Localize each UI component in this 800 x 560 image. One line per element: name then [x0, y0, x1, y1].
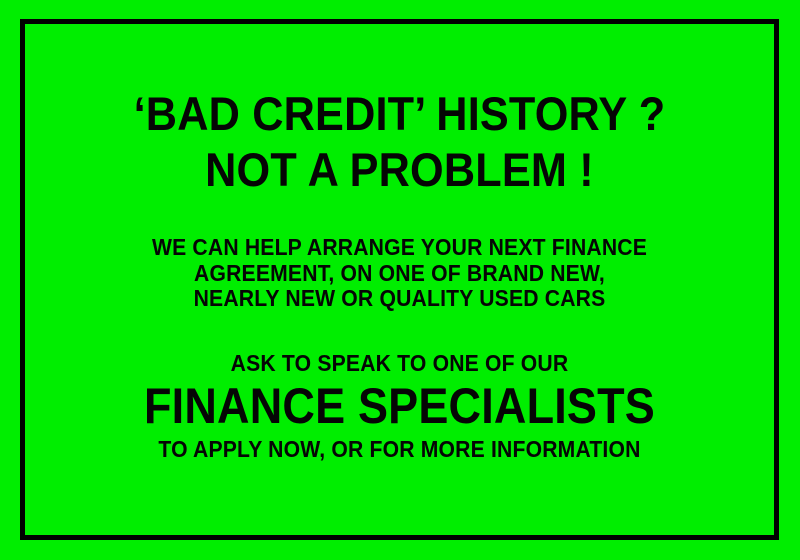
body-line-2: AGREEMENT, ON ONE OF BRAND NEW, — [62, 261, 736, 287]
cta-lead-text: ASK TO SPEAK TO ONE OF OUR — [62, 349, 736, 377]
cta-tail-text: TO APPLY NOW, OR FOR MORE INFORMATION — [62, 435, 736, 463]
body-line-3: NEARLY NEW OR QUALITY USED CARS — [62, 286, 736, 312]
cta-headline-text: FINANCE SPECIALISTS — [62, 377, 736, 435]
body-text-block: WE CAN HELP ARRANGE YOUR NEXT FINANCE AG… — [25, 235, 774, 312]
call-to-action-block: ASK TO SPEAK TO ONE OF OUR FINANCE SPECI… — [25, 349, 774, 463]
body-line-1: WE CAN HELP ARRANGE YOUR NEXT FINANCE — [62, 235, 736, 261]
headline-line-1: ‘BAD CREDIT’ HISTORY ? — [55, 86, 744, 142]
poster-canvas: ‘BAD CREDIT’ HISTORY ? NOT A PROBLEM ! W… — [0, 0, 800, 560]
headline-line-2: NOT A PROBLEM ! — [55, 142, 744, 198]
poster-content: ‘BAD CREDIT’ HISTORY ? NOT A PROBLEM ! W… — [25, 24, 774, 535]
headline-block: ‘BAD CREDIT’ HISTORY ? NOT A PROBLEM ! — [25, 86, 774, 198]
